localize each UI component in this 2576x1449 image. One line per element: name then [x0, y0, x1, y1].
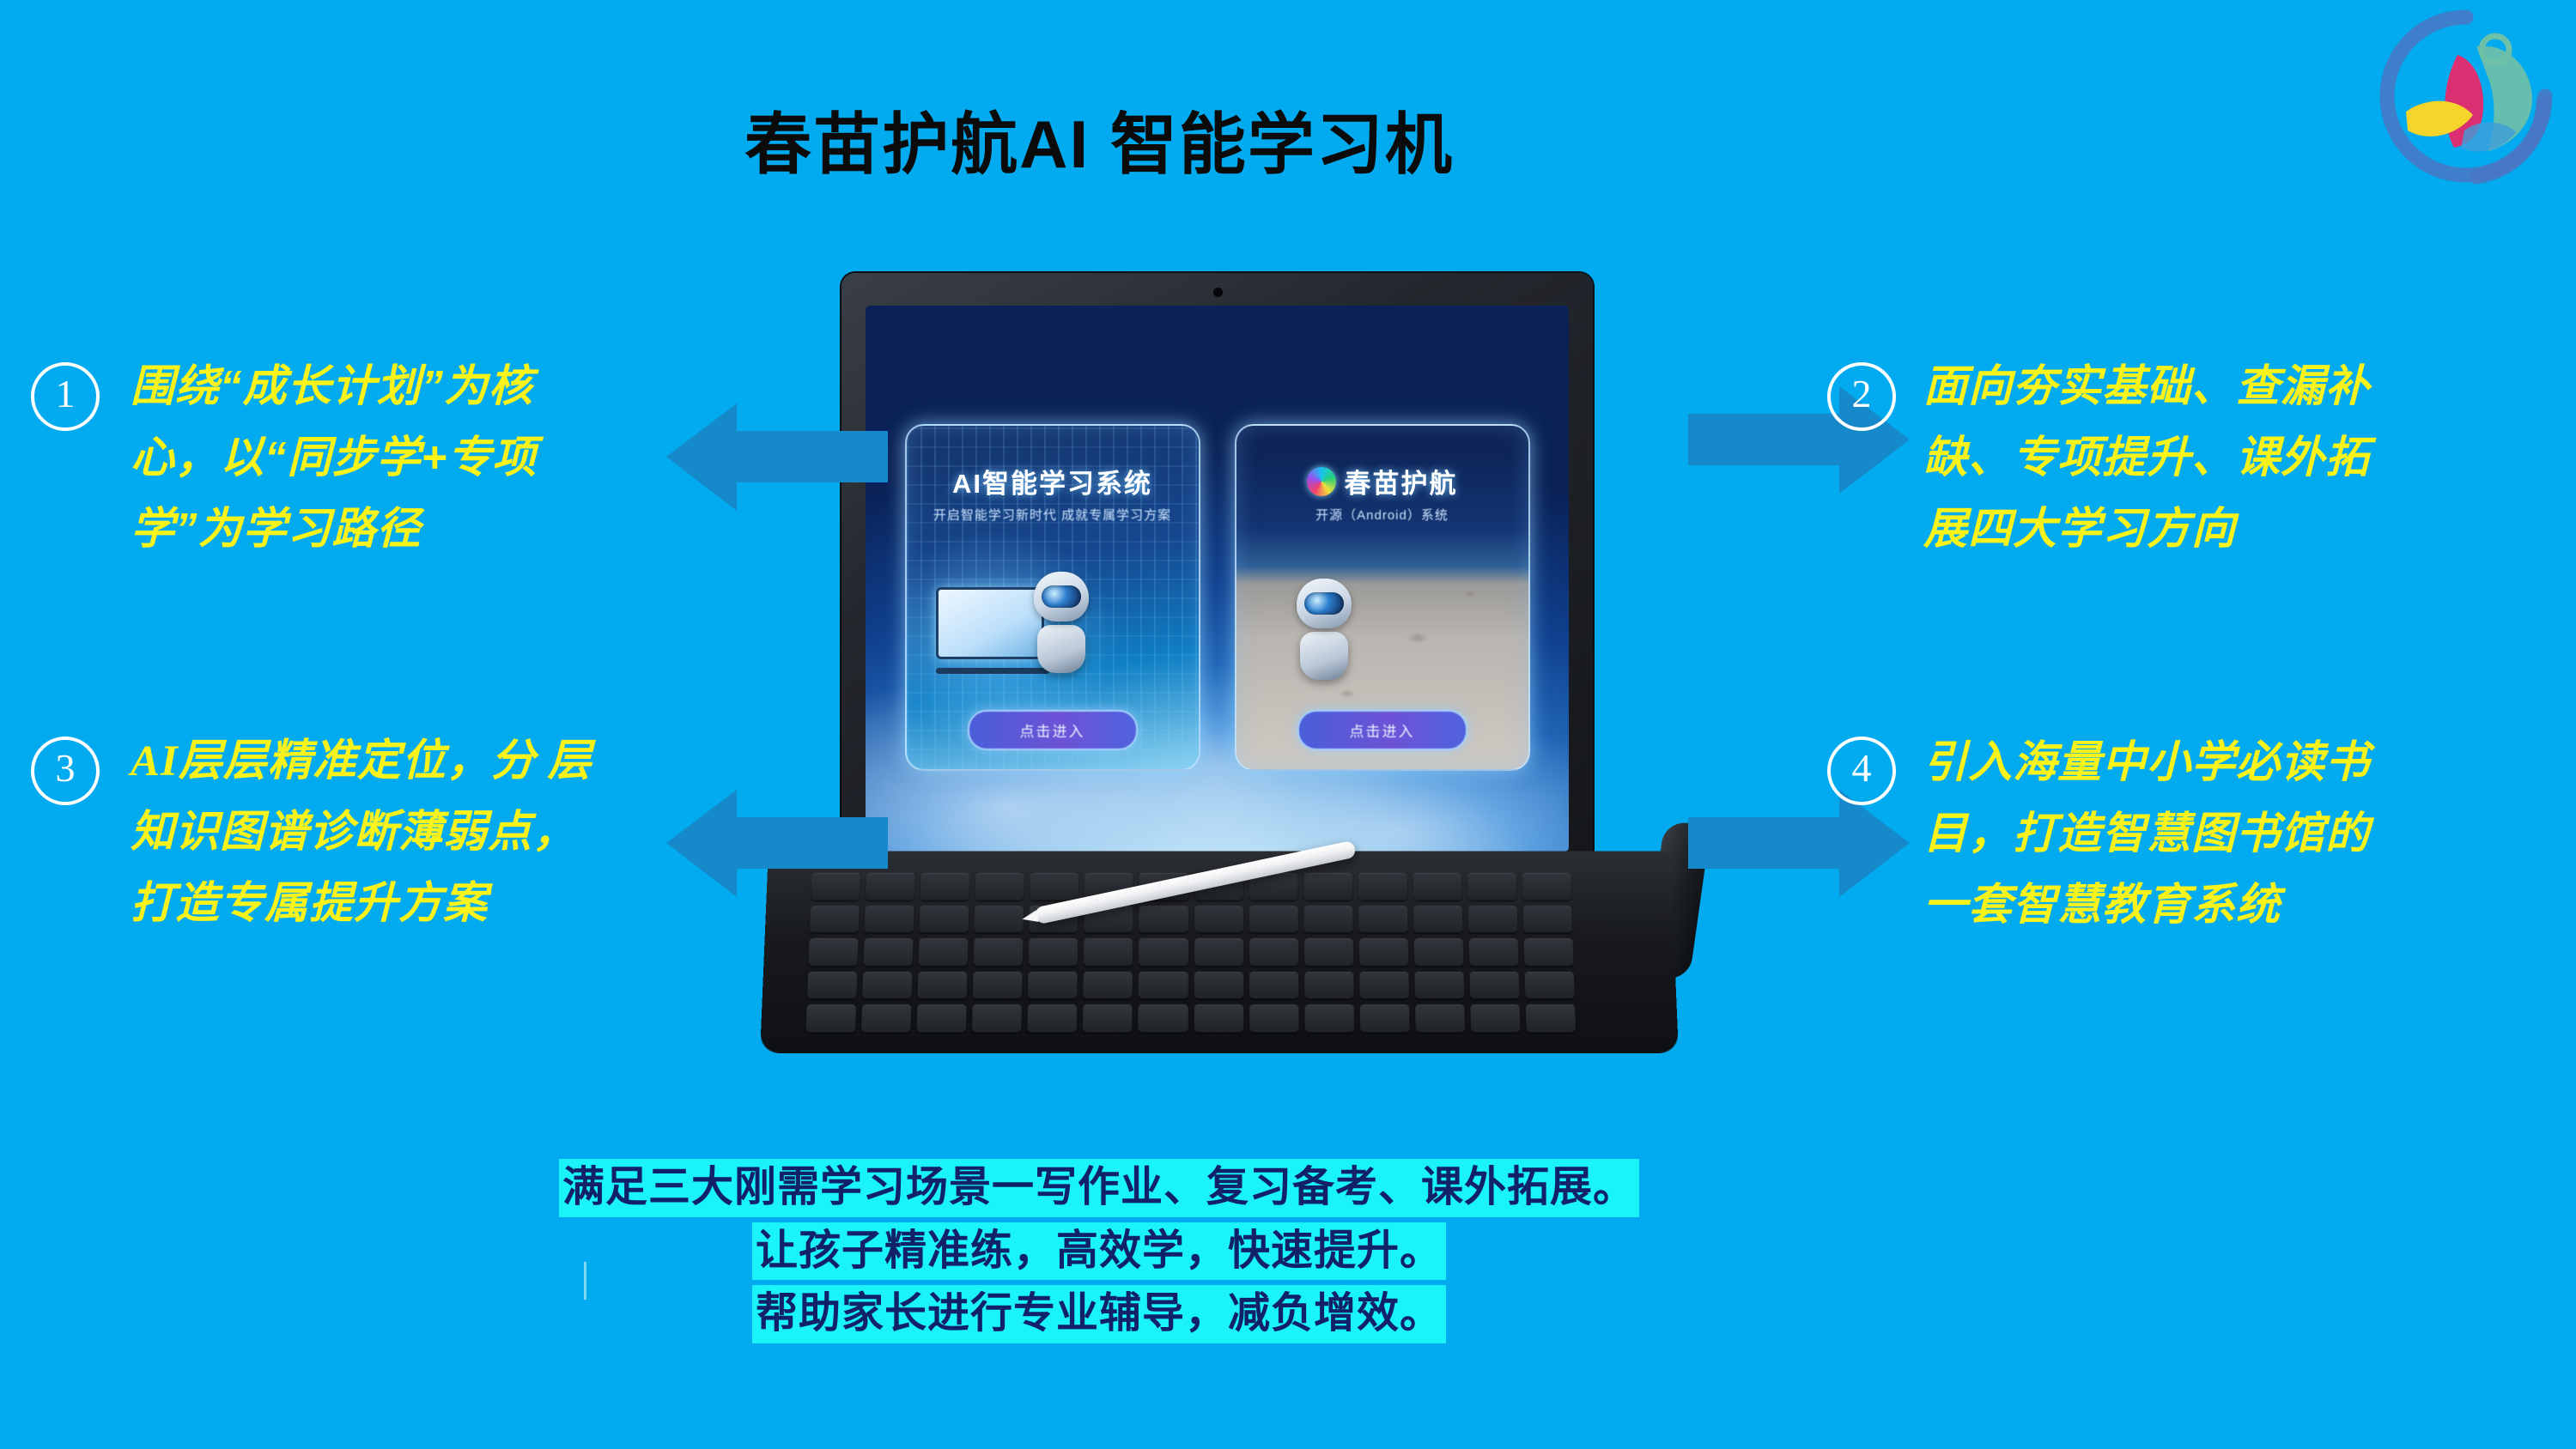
app-card-subtitle: 开源（Android）系统	[1236, 507, 1528, 524]
arrow-right-bottom-icon	[1688, 790, 1910, 897]
robot-mascot-icon	[1034, 572, 1089, 673]
astronaut-visor	[1304, 592, 1344, 615]
tablet-device: AI智能学习系统 开启智能学习新时代 成就专属学习方案	[756, 273, 1717, 1076]
app-card-chunmiao-huhang[interactable]: 春苗护航 开源（Android）系统 点击进入	[1235, 424, 1530, 771]
astronaut-robot-icon	[1297, 579, 1352, 680]
feature-text-line: 学”为学习路径	[131, 493, 663, 564]
feature-number-3: 3	[31, 737, 100, 805]
keyboard-row[interactable]	[805, 1005, 1576, 1033]
keyboard-row[interactable]	[807, 972, 1575, 999]
monitor-icon	[936, 587, 1044, 659]
chunmiao-logo-badge-icon	[1307, 467, 1336, 496]
feature-text-line: 打造专属提升方案	[131, 869, 663, 940]
app-card-subtitle: 开启智能学习新时代 成就专属学习方案	[907, 507, 1199, 524]
tablet-screen: AI智能学习系统 开启智能学习新时代 成就专属学习方案	[866, 306, 1569, 852]
feature-number-1: 1	[31, 362, 100, 431]
feature-text-line: 一套智慧教育系统	[1923, 869, 2456, 940]
feature-text-line: 引入海量中小学必读书	[1923, 726, 2456, 797]
text-caret	[584, 1262, 586, 1300]
bottom-benefit-lines: 满足三大刚需学习场景一写作业、复习备考、课外拓展。 让孩子精准练，高效学，快速提…	[0, 1159, 2198, 1349]
desk-surface	[936, 668, 1049, 674]
screen-app-cards: AI智能学习系统 开启智能学习新时代 成就专属学习方案	[866, 424, 1569, 771]
astronaut-suit	[1300, 632, 1348, 680]
app-card-title: 春苗护航	[1345, 462, 1458, 500]
page-title: 春苗护航AI 智能学习机	[0, 110, 2198, 180]
feature-text-3: AI层层精准定位，分 层 知识图谱诊断薄弱点， 打造专属提升方案	[131, 726, 663, 940]
front-camera-icon	[1213, 288, 1223, 297]
feature-text-line: 目，打造智慧图书馆的	[1923, 797, 2456, 869]
benefit-line-text: 帮助家长进行专业辅导，减负增效。	[752, 1285, 1446, 1343]
benefit-line: 让孩子精准练，高效学，快速提升。	[0, 1222, 2198, 1281]
keyboard-row[interactable]	[810, 906, 1572, 932]
arrow-left-top-icon	[666, 403, 888, 511]
robot-body	[1037, 625, 1085, 673]
desk-monitor-illustration	[936, 587, 1049, 682]
app-card-enter-button[interactable]: 点击进入	[1297, 710, 1467, 750]
robot-head	[1034, 572, 1089, 621]
robot-visor	[1042, 585, 1081, 608]
arrow-left-bottom-icon	[666, 790, 888, 897]
app-card-header: AI智能学习系统 开启智能学习新时代 成就专属学习方案	[907, 462, 1199, 524]
benefit-line-text: 满足三大刚需学习场景一写作业、复习备考、课外拓展。	[559, 1159, 1639, 1217]
app-card-title: AI智能学习系统	[907, 462, 1199, 500]
feature-text-line: 缺、专项提升、课外拓	[1923, 421, 2456, 493]
keyboard-row[interactable]	[808, 938, 1573, 966]
slide-canvas: 春苗护航AI 智能学习机 AI智能学习系统 开启智能学习新时代 成就专属	[0, 0, 2576, 1449]
app-card-ai-learning-system[interactable]: AI智能学习系统 开启智能学习新时代 成就专属学习方案	[905, 424, 1200, 771]
app-card-header: 春苗护航 开源（Android）系统	[1236, 462, 1528, 524]
benefit-line: 帮助家长进行专业辅导，减负增效。	[0, 1285, 2198, 1343]
feature-text-1: 围绕“成长计划”为核 心，以“同步学+专项 学”为学习路径	[131, 350, 663, 564]
feature-text-4: 引入海量中小学必读书 目，打造智慧图书馆的 一套智慧教育系统	[1923, 726, 2456, 940]
feature-text-line: 围绕“成长计划”为核	[131, 350, 663, 421]
chunmiao-brand-logo-icon	[2375, 5, 2557, 187]
tablet-screen-bezel: AI智能学习系统 开启智能学习新时代 成就专属学习方案	[841, 273, 1593, 874]
feature-text-line: 面向夯实基础、查漏补	[1923, 350, 2456, 421]
benefit-line: 满足三大刚需学习场景一写作业、复习备考、课外拓展。	[0, 1159, 2198, 1217]
app-card-title-row: 春苗护航	[1307, 462, 1458, 500]
astronaut-helmet	[1297, 579, 1352, 628]
feature-text-line: 展四大学习方向	[1923, 493, 2456, 564]
feature-text-line: AI层层精准定位，分 层	[131, 726, 663, 797]
feature-text-2: 面向夯实基础、查漏补 缺、专项提升、课外拓 展四大学习方向	[1923, 350, 2456, 564]
app-card-enter-button[interactable]: 点击进入	[968, 710, 1138, 750]
feature-number-2: 2	[1827, 362, 1896, 431]
feature-number-4: 4	[1827, 737, 1896, 805]
feature-text-line: 心，以“同步学+专项	[131, 421, 663, 493]
feature-text-line: 知识图谱诊断薄弱点，	[131, 797, 663, 869]
benefit-line-text: 让孩子精准练，高效学，快速提升。	[752, 1222, 1446, 1281]
keyboard-keys[interactable]	[805, 873, 1576, 1033]
